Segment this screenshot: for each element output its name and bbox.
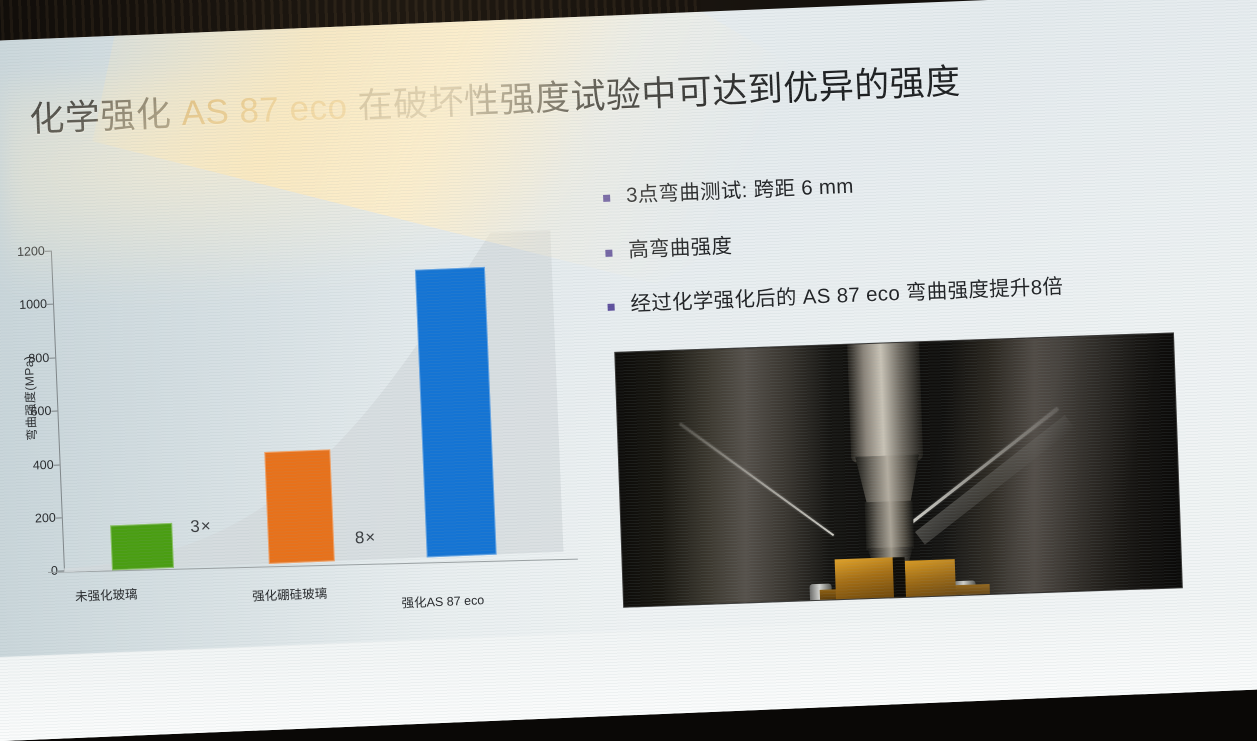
title-accent: AS 87 eco [181,87,348,133]
bullet-list: 3点弯曲测试: 跨距 6 mm 高弯曲强度 经过化学强化后的 AS 87 eco… [603,160,1189,348]
chart-plot-area: 3× 8× [51,230,564,572]
presentation-slide: 化学强化 AS 87 eco 在破坏性强度试验中可达到优异的强度 弯曲强度(MP… [0,0,1257,741]
photo-gloss-overlay [615,333,1182,606]
y-tick-label: 1000 [1,297,48,313]
bar-strengthened-borosilicate [264,449,335,564]
bending-strength-bar-chart: 弯曲强度(MPa) 1200 1000 800 600 400 200 0 [0,217,590,631]
list-item: 高弯曲强度 [605,215,1186,264]
slide-title: 化学强化 AS 87 eco 在破坏性强度试验中可达到优异的强度 [28,43,1199,142]
y-tick-label: 400 [7,458,54,474]
x-category-label-as87eco: 强化AS 87 eco [401,589,484,611]
bar-unstrengthened-glass [110,523,174,571]
y-axis-ticks: 1200 1000 800 600 400 200 0 [0,239,58,581]
title-prefix: 化学强化 [29,94,183,139]
three-point-bending-test-photo [614,332,1183,607]
bullet-text: 高弯曲强度 [628,233,733,263]
x-category-label-unstrengthened: 未强化玻璃 [75,583,138,605]
y-tick-label: 600 [5,404,52,420]
projected-slide-wrapper: 化学强化 AS 87 eco 在破坏性强度试验中可达到优异的强度 弯曲强度(MP… [0,0,1257,741]
square-bullet-icon [603,195,610,202]
bar-strengthened-as87eco [415,267,497,558]
multiplier-annotation-3x: 3× [190,516,212,537]
square-bullet-icon [608,304,615,311]
list-item: 经过化学强化后的 AS 87 eco 弯曲强度提升8倍 [607,269,1188,318]
y-tick-label: 200 [10,511,57,527]
multiplier-annotation-8x: 8× [354,528,376,549]
y-tick-label: 800 [3,351,50,367]
bullet-text: 经过化学强化后的 AS 87 eco 弯曲强度提升8倍 [630,274,1064,317]
y-tick-label: 1200 [0,244,45,260]
title-suffix: 在破坏性强度试验中可达到优异的强度 [347,62,962,126]
slide-bottom-band [0,604,1257,741]
x-category-label-borosilicate: 强化硼硅玻璃 [252,583,328,605]
bullet-text: 3点弯曲测试: 跨距 6 mm [626,174,855,209]
square-bullet-icon [605,249,612,256]
list-item: 3点弯曲测试: 跨距 6 mm [603,160,1184,209]
